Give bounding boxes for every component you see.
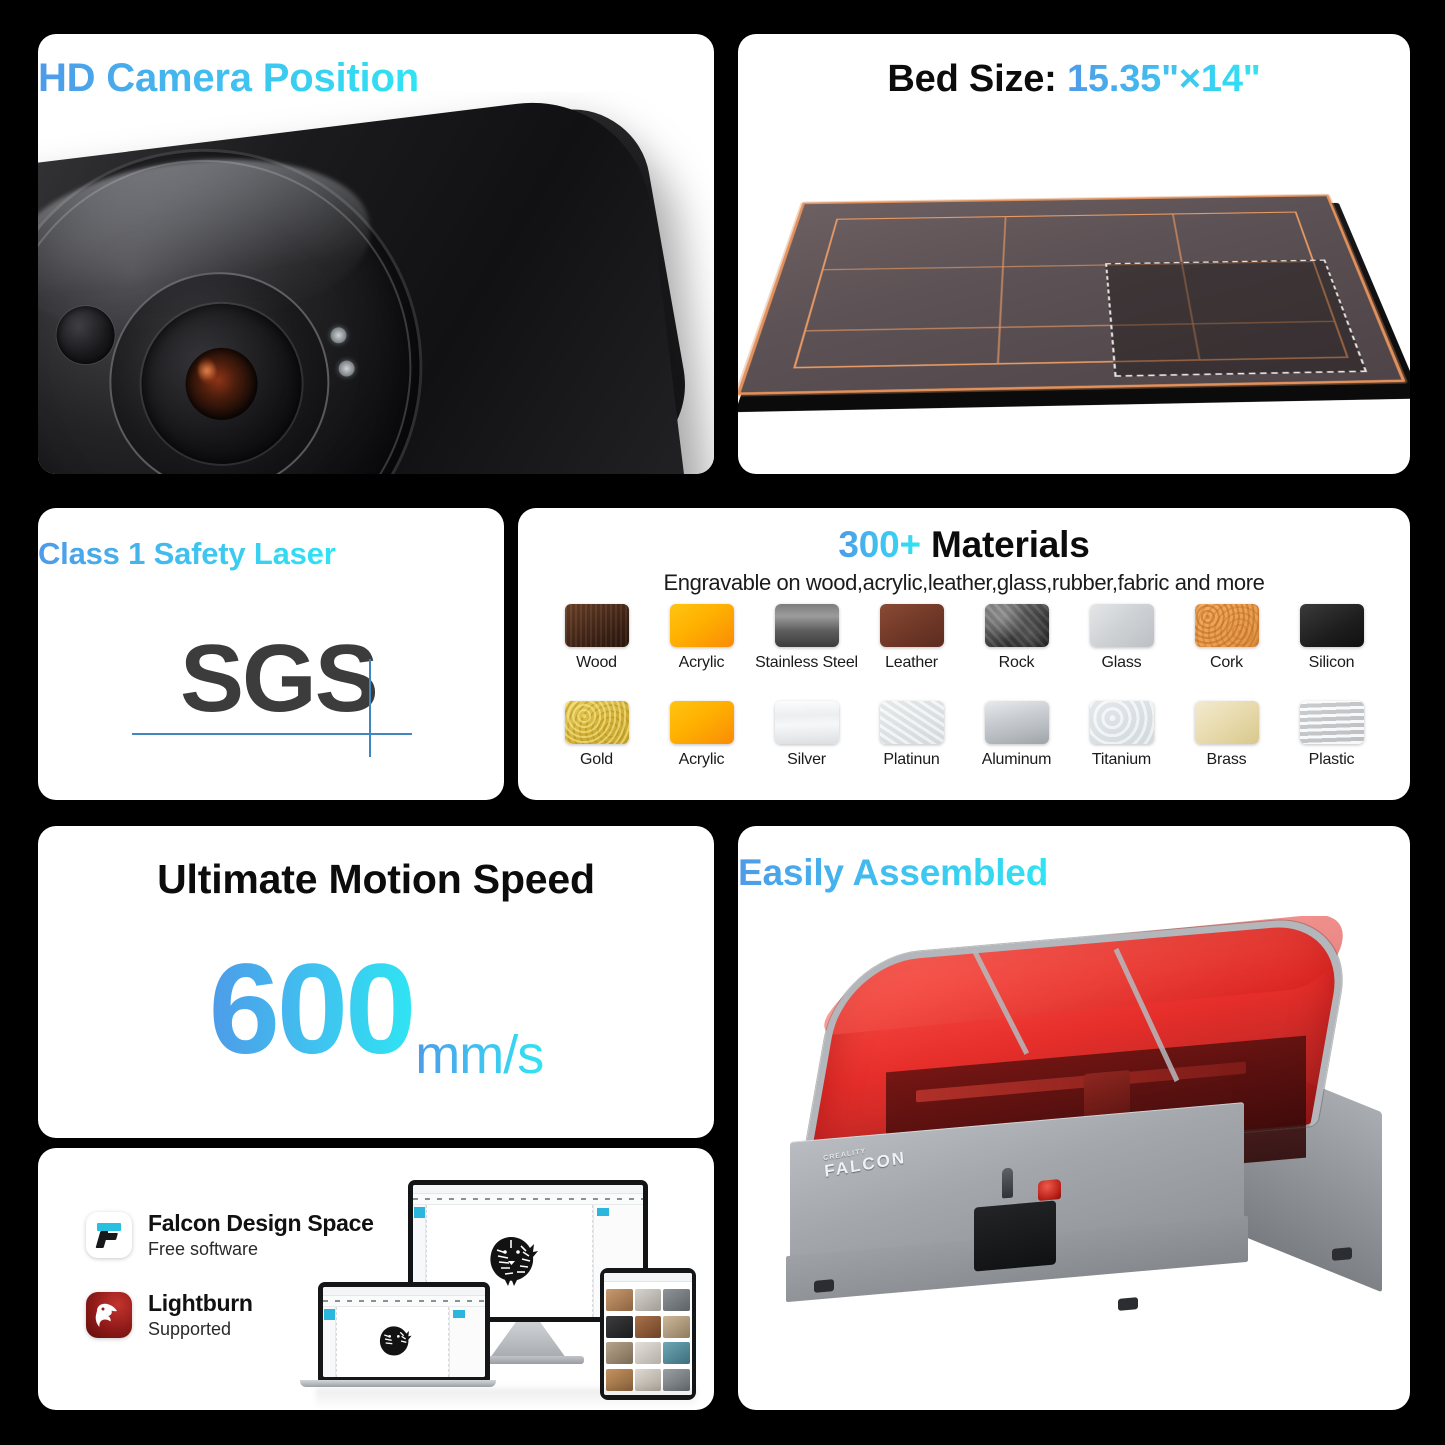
motion-speed-unit: mm/s [415,1028,543,1082]
dragon-icon [94,1302,124,1329]
machine-foot [1118,1297,1138,1311]
material-label: Cork [1210,654,1243,672]
material-swatch-item: Brass [1174,701,1279,794]
tiger-artwork-icon [477,1228,543,1290]
gallery-thumbnail [663,1316,690,1338]
infographic-board: HD Camera Position Auto fill making easi… [0,0,1445,1445]
laptop-mockup [318,1282,490,1382]
material-label: Silver [787,751,826,769]
camera-lens-outer-ring [97,260,342,474]
material-label: Rock [999,654,1035,672]
bed-plate-group [738,195,1410,406]
material-label: Acrylic [679,654,725,672]
material-swatch [985,701,1049,744]
panel-materials: 300+ Materials Engravable on wood,acryli… [518,508,1410,800]
material-swatch-item: Leather [859,604,964,697]
falcon-app-icon [86,1212,132,1258]
material-swatch-item: Aluminum [964,701,1069,794]
bed-work-area-outline [793,212,1349,369]
materials-count: 300+ [838,524,921,566]
panel-software: Falcon Design Space Free software Lightb… [38,1148,714,1410]
material-swatch [1090,701,1154,744]
material-swatch-item: Silicon [1279,604,1384,697]
panel-safety-laser: Class 1 Safety Laser SGS [38,508,504,800]
falcon-laser-engraver-photo: CREALITY FALCON [738,916,1410,1410]
gallery-thumbnail [606,1289,633,1311]
material-swatch [880,604,944,647]
bed-top-plate [738,195,1406,395]
material-label: Plastic [1309,751,1355,769]
material-swatch [775,604,839,647]
software-status: Supported [148,1319,253,1340]
material-swatch [565,701,629,744]
materials-title-word: Materials [931,524,1090,565]
gallery-thumbnail [635,1342,662,1364]
material-swatch-item: Rock [964,604,1069,697]
material-label: Leather [885,654,938,672]
camera-dome [38,127,444,474]
material-swatch [1090,604,1154,647]
material-swatch [565,604,629,647]
app-toolbar [413,1194,643,1205]
material-swatch [1195,604,1259,647]
machine-foot [1332,1247,1352,1261]
motion-speed-value: 600 [209,946,414,1074]
easily-assembled-title: Easily Assembled [738,852,1048,894]
material-swatch [670,701,734,744]
project-gallery-grid [604,1287,692,1395]
app-canvas [336,1307,449,1377]
bed-size-title-value: 15.35"×14" [1067,58,1261,101]
material-swatch [880,701,944,744]
hd-camera-module-photo [38,92,714,474]
material-swatch [1300,604,1364,647]
bed-grid-line-horizontal [804,321,1336,332]
safety-laser-title: Class 1 Safety Laser [38,536,336,572]
panel-motion-speed: Ultimate Motion Speed 600 mm/s [38,826,714,1138]
gallery-thumbnail [663,1289,690,1311]
device-reflection [316,1388,696,1410]
material-swatch [985,604,1049,647]
laser-engraver-machine: CREALITY FALCON [766,936,1382,1356]
machine-foot [814,1279,834,1293]
software-on-monitor-laptop-tablet-mockup [306,1176,706,1404]
camera-lens-mid-ring [132,295,310,473]
material-label: Aluminum [982,751,1052,769]
camera-body [38,92,694,474]
tablet-screen [604,1273,692,1395]
materials-swatch-grid: WoodAcrylicStainless SteelLeatherRockGla… [544,604,1384,794]
material-label: Acrylic [679,751,725,769]
material-swatch-item: Acrylic [649,701,754,794]
material-swatch-item: Titanium [1069,701,1174,794]
gallery-thumbnail [606,1342,633,1364]
software-name: Lightburn [148,1290,253,1317]
material-label: Glass [1102,654,1142,672]
material-label: Gold [580,751,613,769]
sgs-logo: SGS [38,618,504,768]
gallery-thumbnail [663,1342,690,1364]
material-swatch-item: Platinun [859,701,964,794]
material-label: Titanium [1092,751,1151,769]
software-item-text: Lightburn Supported [148,1290,253,1340]
camera-led-indicator [330,326,348,344]
laptop-screen [323,1287,485,1377]
material-label: Platinun [883,751,939,769]
material-swatch [775,701,839,744]
app-right-panel [449,1307,485,1377]
camera-led-indicator [338,360,356,378]
gallery-thumbnail [635,1316,662,1338]
laptop-keyboard-base [300,1380,496,1387]
sgs-logo-mark: SGS [126,625,416,761]
app-left-toolbar [323,1307,336,1377]
machine-joystick [1002,1168,1013,1199]
material-swatch-item: Gold [544,701,649,794]
monitor-stand [490,1322,566,1358]
motion-speed-title: Ultimate Motion Speed [38,856,714,903]
material-label: Silicon [1309,654,1355,672]
material-swatch-item: Acrylic [649,604,754,697]
machine-control-panel [974,1200,1056,1271]
material-swatch [670,604,734,647]
gallery-thumbnail [635,1289,662,1311]
lightburn-app-icon [86,1292,132,1338]
app-menubar [604,1273,692,1282]
machine-emergency-stop-button [1038,1179,1061,1201]
app-menubar [323,1287,485,1296]
gallery-thumbnail [606,1316,633,1338]
materials-subtitle: Engravable on wood,acrylic,leather,glass… [518,570,1410,596]
material-swatch-item: Glass [1069,604,1174,697]
material-swatch-item: Plastic [1279,701,1384,794]
material-label: Wood [576,654,617,672]
panel-hd-camera: HD Camera Position Auto fill making easi… [38,34,714,474]
material-swatch-item: Wood [544,604,649,697]
tiger-artwork-icon [371,1320,415,1362]
motion-speed-value-row: 600 mm/s [38,946,714,1074]
falcon-icon-top-bar [97,1223,121,1231]
sgs-vertical-rule [369,659,371,757]
bed-selection-region [1105,259,1367,376]
app-menubar [413,1185,643,1194]
sgs-wordmark: SGS [180,631,377,727]
material-swatch-item: Stainless Steel [754,604,859,697]
material-swatch-item: Cork [1174,604,1279,697]
laser-bed-perspective-diagram: 50%↑ [738,122,1410,474]
material-swatch [1195,701,1259,744]
material-label: Stainless Steel [755,654,858,672]
app-toolbar [323,1296,485,1307]
camera-lens-iris [181,344,261,424]
panel-easily-assembled: Easily Assembled CREALITY FALCON [738,826,1410,1410]
tablet-mockup [600,1268,696,1400]
material-label: Brass [1207,751,1247,769]
bed-size-title-prefix: Bed Size: [887,58,1067,100]
materials-title: 300+ Materials [518,524,1410,566]
panel-bed-size: Bed Size: 15.35"×14" 50%↑ [738,34,1410,474]
bed-size-title: Bed Size: 15.35"×14" [738,58,1410,101]
material-swatch-item: Silver [754,701,859,794]
material-swatch [1300,701,1364,744]
camera-secondary-sensor [53,303,118,368]
